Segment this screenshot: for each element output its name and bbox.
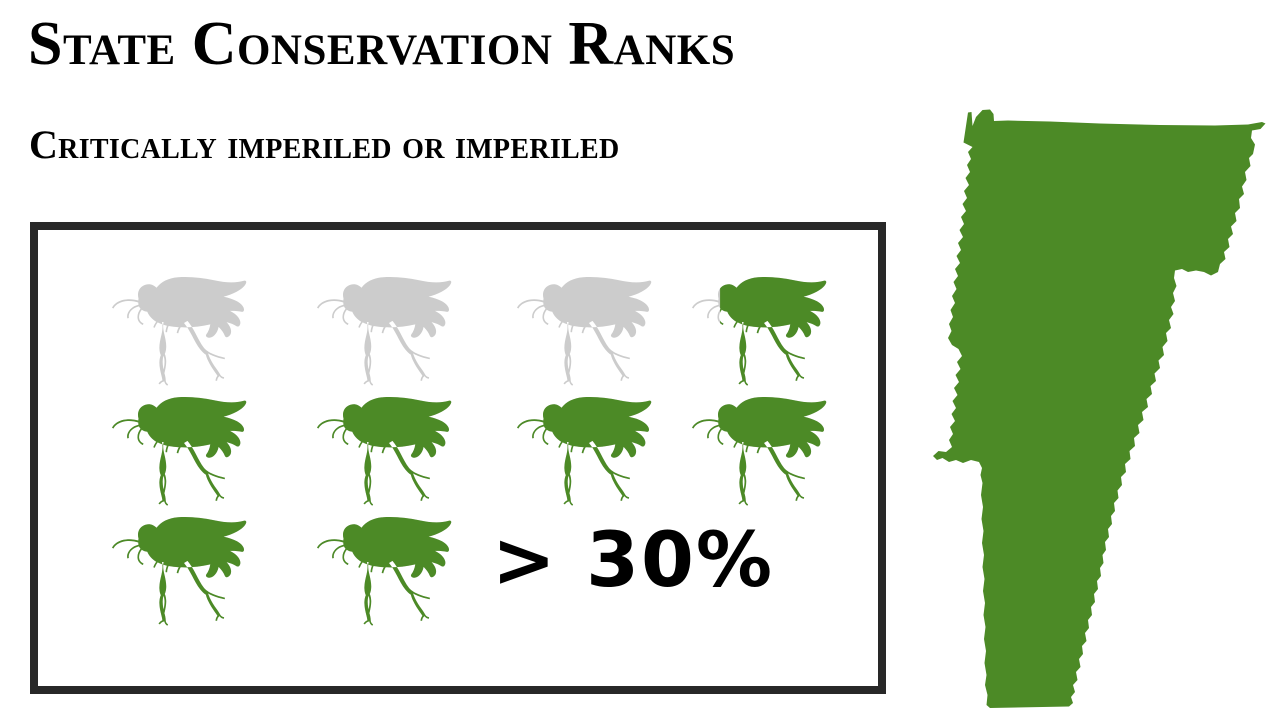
bee-icon-r0c1 [281,260,459,382]
bee-empty-layer [317,277,451,386]
bee-filled-layer [112,517,246,626]
pictogram-panel [30,222,886,694]
vermont-silhouette-path [933,110,1266,709]
bee-filled-layer [692,397,826,506]
bee-icon-r2c0 [76,500,254,622]
percent-value-label: > 30% [492,522,792,598]
infographic-canvas: State Conservation Ranks Critically impe… [0,0,1280,720]
bee-icon-r1c3 [656,380,834,502]
bee-icon-r0c0 [76,260,254,382]
page-title: State Conservation Ranks [28,12,735,77]
bee-icon-r0c2 [481,260,659,382]
bee-icon-r1c1 [281,380,459,502]
bee-pictogram-grid [38,230,878,686]
bee-empty-layer [112,277,246,386]
bee-filled-layer [317,397,451,506]
bee-icon-r2c1 [281,500,459,622]
page-subtitle: Critically imperiled or imperiled [29,124,620,166]
bee-filled-layer [112,397,246,506]
bee-filled-layer [692,277,826,386]
bee-filled-layer [517,397,651,506]
state-map-vermont [930,100,1280,720]
bee-icon-r1c0 [76,380,254,502]
bee-icon-r1c2 [481,380,659,502]
bee-icon-r0c3 [656,260,834,382]
bee-empty-layer [517,277,651,386]
bee-filled-layer [317,517,451,626]
